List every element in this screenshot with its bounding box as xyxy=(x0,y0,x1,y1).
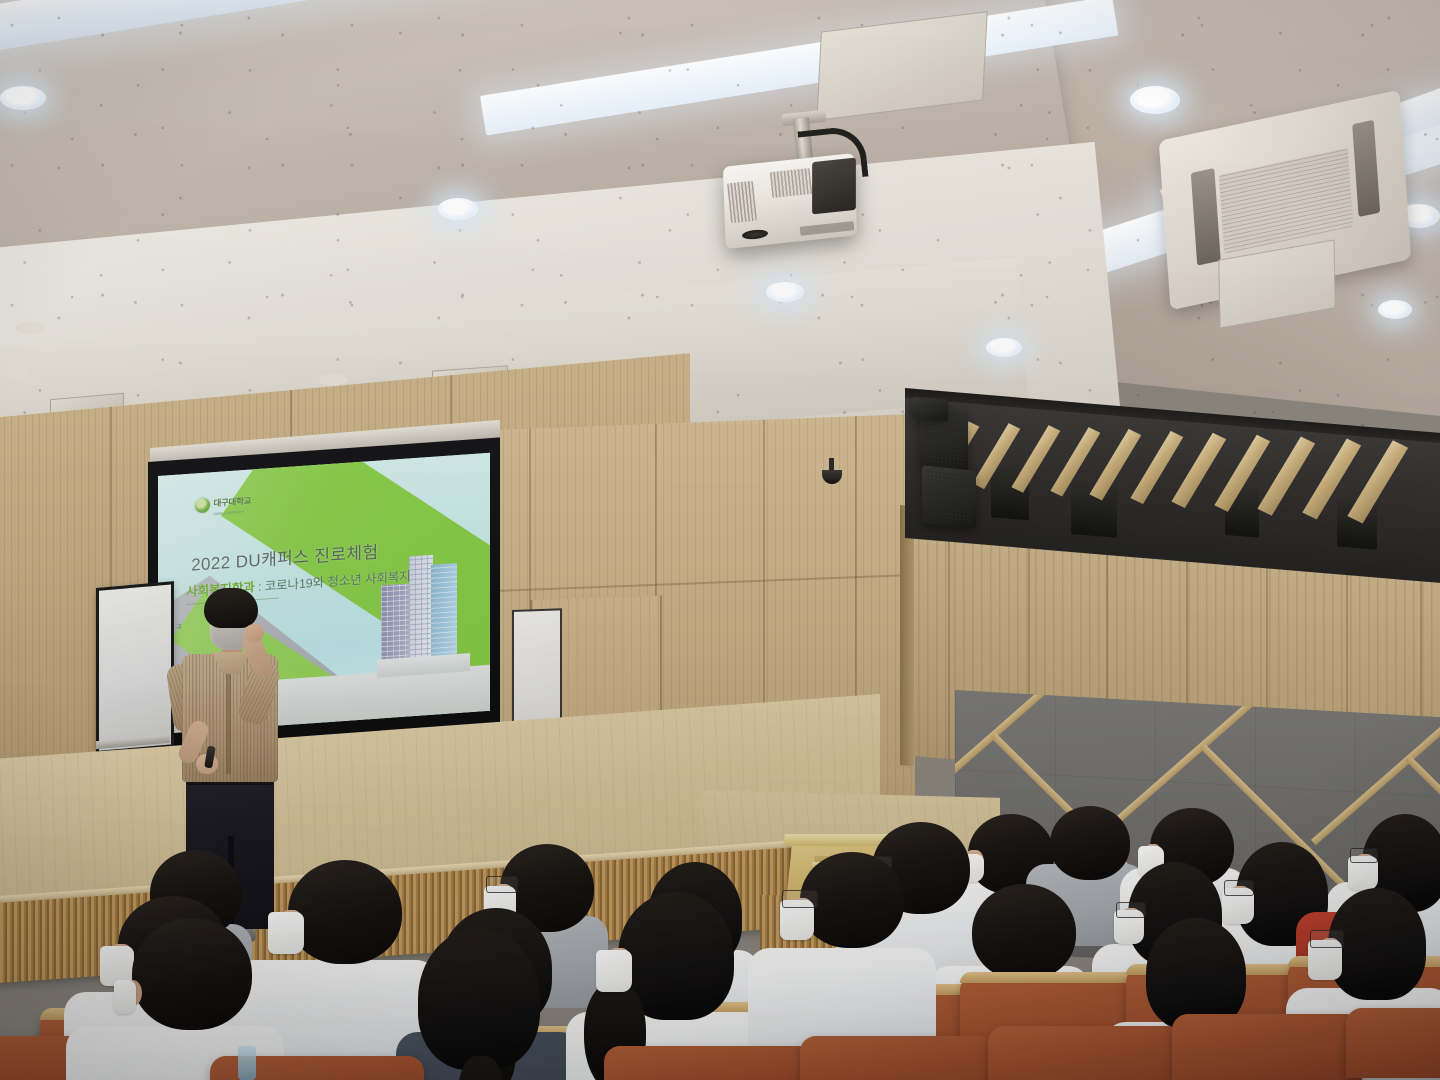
water-bottle[interactable] xyxy=(238,1046,256,1080)
downlight-icon xyxy=(438,198,478,220)
auditorium-seat[interactable] xyxy=(800,1036,1000,1080)
auditorium-seat[interactable] xyxy=(1346,1008,1440,1078)
auditorium-photo: 대구대학교 DAEGU UNIVERSITY 2022 DU캐퍼스 진로체험 사… xyxy=(0,0,1440,1080)
projector-vent-grille xyxy=(727,181,757,223)
downlight-off-icon xyxy=(4,368,32,379)
projector-connector-panel xyxy=(812,158,856,215)
line-array-speaker xyxy=(922,465,976,529)
slide-logo-text: 대구대학교 xyxy=(214,495,252,508)
university-emblem-icon xyxy=(195,497,210,513)
downlight-icon xyxy=(1378,300,1412,319)
downlight-icon xyxy=(986,338,1022,357)
projector-vent-grille xyxy=(770,168,812,198)
auditorium-seat[interactable] xyxy=(604,1046,814,1080)
speaker-mount-bracket xyxy=(912,397,948,422)
downlight-icon xyxy=(1130,86,1180,114)
auditorium-seat[interactable] xyxy=(1172,1014,1362,1080)
wood-wall-right-edge xyxy=(900,505,914,766)
slide-university-logo: 대구대학교 DAEGU UNIVERSITY xyxy=(195,490,252,517)
presenter-shirt-placket xyxy=(226,666,231,774)
seat-top-trim xyxy=(960,972,1140,983)
audience xyxy=(0,800,1440,1080)
downlight-off-icon xyxy=(16,322,46,334)
downlight-icon xyxy=(766,282,804,302)
downlight-icon xyxy=(0,86,46,110)
auditorium-seat[interactable] xyxy=(988,1026,1184,1080)
presenter-hair xyxy=(204,588,258,628)
